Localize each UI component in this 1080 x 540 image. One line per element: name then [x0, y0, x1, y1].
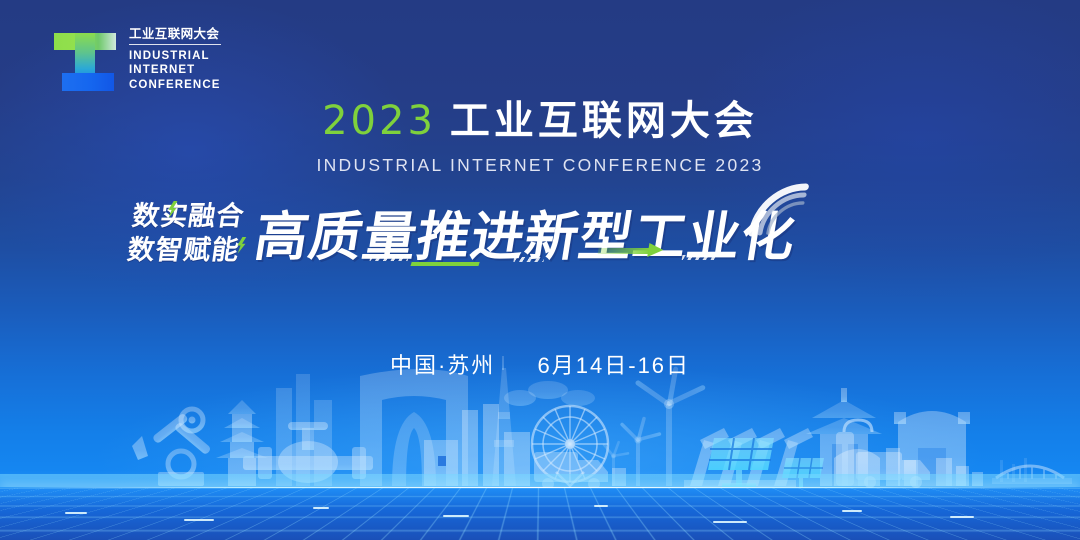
slogan-main-wrapper: 高质量推进新型工业化	[250, 195, 802, 271]
grid-speck	[313, 507, 329, 509]
grid-speck	[184, 519, 214, 521]
logo: 工业互联网大会 INDUSTRIAL INTERNET CONFERENCE	[52, 28, 221, 93]
grid-speck	[950, 516, 974, 518]
slogan-secondary-text-2: 数智赋能	[126, 235, 242, 265]
logo-chinese-name: 工业互联网大会	[129, 28, 221, 45]
logo-mark-icon	[52, 29, 118, 91]
logo-en-line-2: INTERNET	[129, 63, 221, 78]
logo-english-name: INDUSTRIAL INTERNET CONFERENCE	[129, 49, 221, 93]
wind-turbines-icon	[602, 366, 706, 486]
title-chinese: 工业互联网大会	[450, 88, 758, 146]
speed-hatch-icon	[370, 256, 409, 261]
grid-lines	[0, 488, 1080, 540]
arrow-shaft	[598, 248, 651, 254]
title-row: 2023 工业互联网大会	[322, 88, 758, 146]
logo-text: 工业互联网大会 INDUSTRIAL INTERNET CONFERENCE	[129, 28, 221, 93]
grid-speck	[842, 510, 862, 512]
slogan-secondary-line-2: 数智赋能	[126, 236, 242, 265]
title-english: INDUSTRIAL INTERNET CONFERENCE 2023	[0, 155, 1080, 176]
speed-hatch-icon	[682, 255, 717, 260]
title-year: 2023	[322, 98, 436, 144]
slogan-block: 数实融合 数智赋能 高质量推进新型工业化	[0, 178, 1080, 288]
slogan-secondary: 数实融合 数智赋能	[126, 202, 247, 264]
perspective-grid-ground	[0, 488, 1080, 540]
office-towers-icon	[276, 374, 332, 486]
green-underline	[410, 262, 479, 266]
grid-speck	[713, 521, 747, 523]
grid-speck	[443, 515, 469, 517]
arrow-head	[647, 243, 664, 257]
title-block: 2023 工业互联网大会 INDUSTRIAL INTERNET CONFERE…	[0, 88, 1080, 176]
speed-hatch-icon	[513, 257, 544, 262]
grid-speck	[65, 512, 87, 514]
green-arrow-icon	[597, 244, 671, 257]
grid-speck	[594, 505, 608, 507]
slogan-secondary-line-1: 数实融合	[130, 202, 246, 231]
city-skyline-modern	[0, 348, 1080, 488]
slogan-secondary-text-1: 数实融合	[130, 201, 246, 231]
logo-en-line-1: INDUSTRIAL	[129, 49, 221, 64]
conference-banner: 工业互联网大会 INDUSTRIAL INTERNET CONFERENCE 2…	[0, 0, 1080, 540]
slogan-inner: 数实融合 数智赋能 高质量推进新型工业化	[130, 178, 950, 288]
gate-of-the-orient-icon	[360, 369, 468, 486]
wifi-signal-icon	[745, 181, 816, 239]
tv-tower-icon	[492, 356, 516, 486]
